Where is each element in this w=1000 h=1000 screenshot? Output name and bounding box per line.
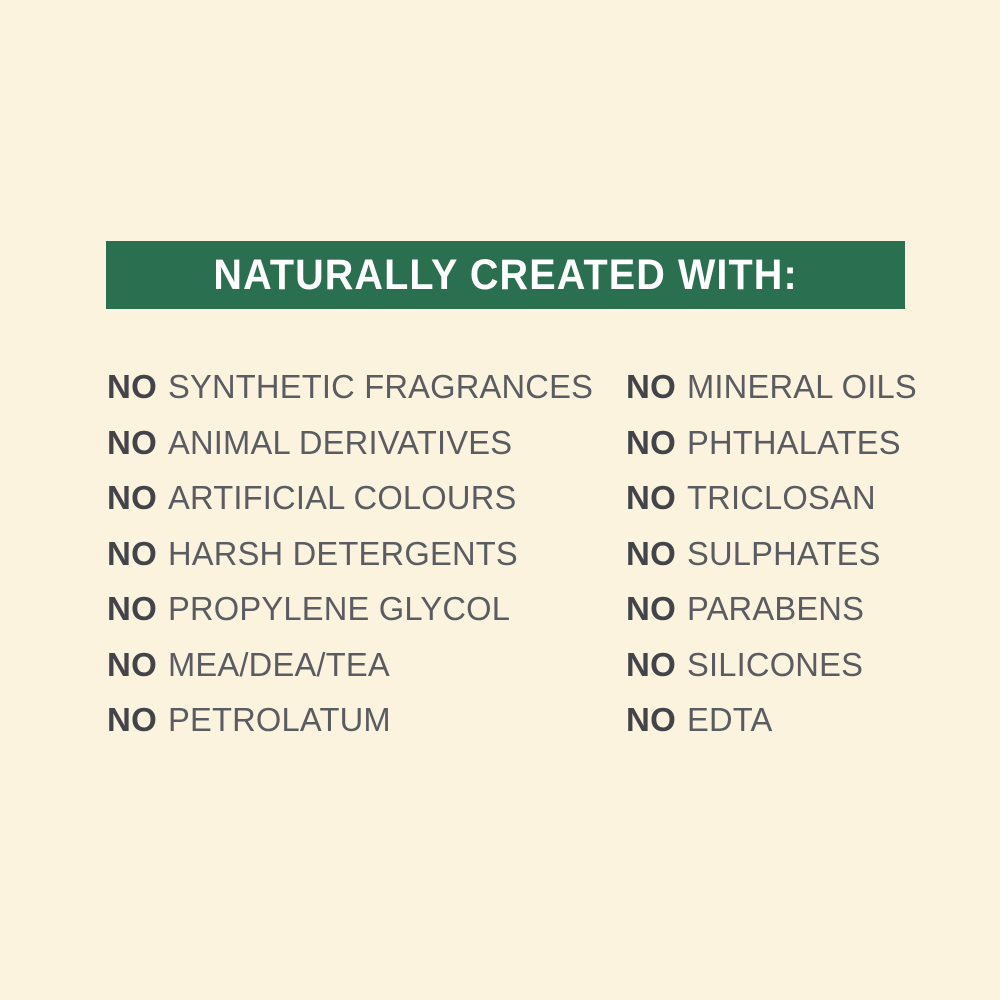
ingredient-no-prefix: NO [107,537,157,571]
ingredient-name: PARABENS [687,592,864,626]
list-item: NOPROPYLENE GLYCOL [107,592,597,648]
list-item: NOMINERAL OILS [626,370,919,426]
ingredient-no-prefix: NO [107,703,157,737]
ingredient-column-left: NOSYNTHETIC FRAGRANCESNOANIMAL DERIVATIV… [107,370,597,759]
list-item: NOPHTHALATES [626,426,919,482]
ingredient-no-prefix: NO [107,426,157,460]
list-item: NOHARSH DETERGENTS [107,537,597,593]
ingredient-name: HARSH DETERGENTS [168,537,518,571]
ingredient-no-prefix: NO [626,537,676,571]
ingredient-no-prefix: NO [626,703,676,737]
ingredient-name: PETROLATUM [168,703,391,737]
list-item: NOANIMAL DERIVATIVES [107,426,597,482]
ingredient-name: MEA/DEA/TEA [168,648,390,682]
ingredient-no-prefix: NO [626,648,676,682]
list-item: NOSYNTHETIC FRAGRANCES [107,370,597,426]
list-item: NOTRICLOSAN [626,481,919,537]
ingredient-no-prefix: NO [107,481,157,515]
ingredient-name: ARTIFICIAL COLOURS [168,481,516,515]
ingredient-name: SYNTHETIC FRAGRANCES [168,370,593,404]
ingredient-no-prefix: NO [626,481,676,515]
list-item: NOEDTA [626,703,919,759]
ingredient-no-prefix: NO [626,370,676,404]
ingredient-name: MINERAL OILS [687,370,917,404]
ingredient-name: PHTHALATES [687,426,901,460]
list-item: NOSILICONES [626,648,919,704]
ingredient-no-prefix: NO [107,592,157,626]
ingredient-no-prefix: NO [626,426,676,460]
list-item: NOPETROLATUM [107,703,597,759]
list-item: NOSULPHATES [626,537,919,593]
ingredient-name: EDTA [687,703,773,737]
ingredient-free-poster: NATURALLY CREATED WITH: NOSYNTHETIC FRAG… [0,0,1000,1000]
ingredient-name: PROPYLENE GLYCOL [168,592,510,626]
ingredient-no-prefix: NO [107,648,157,682]
ingredient-name: SILICONES [687,648,863,682]
ingredient-no-prefix: NO [107,370,157,404]
ingredient-name: SULPHATES [687,537,881,571]
ingredient-no-prefix: NO [626,592,676,626]
ingredient-name: ANIMAL DERIVATIVES [168,426,512,460]
list-item: NOMEA/DEA/TEA [107,648,597,704]
list-item: NOARTIFICIAL COLOURS [107,481,597,537]
ingredient-name: TRICLOSAN [687,481,876,515]
ingredient-column-right: NOMINERAL OILSNOPHTHALATESNOTRICLOSANNOS… [626,370,919,759]
ingredient-columns: NOSYNTHETIC FRAGRANCESNOANIMAL DERIVATIV… [0,0,1000,1000]
list-item: NOPARABENS [626,592,919,648]
